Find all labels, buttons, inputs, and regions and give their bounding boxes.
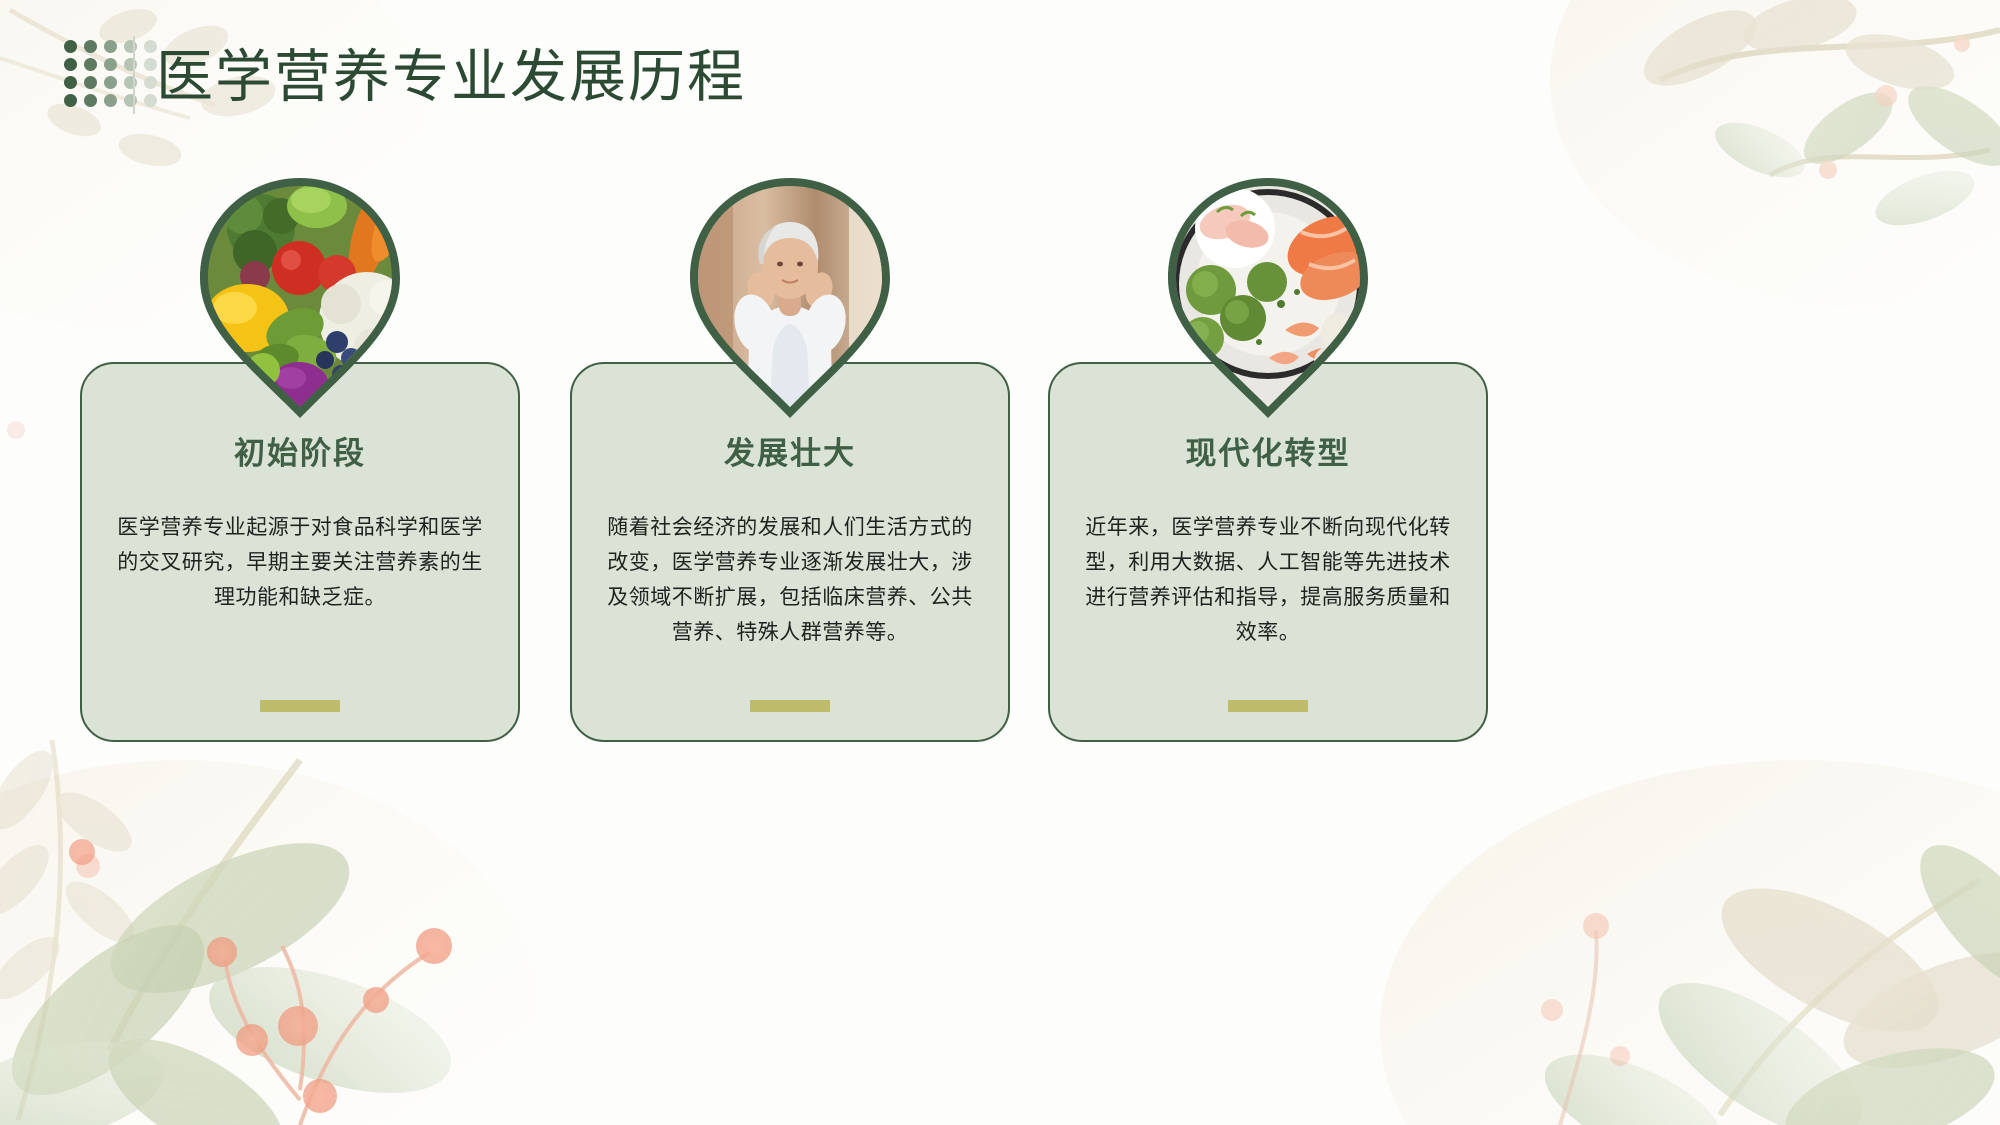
photo-pin-2[interactable] bbox=[681, 172, 899, 422]
card-3-accent-bar bbox=[1228, 700, 1308, 712]
grid-dot bbox=[64, 40, 77, 53]
title-divider-rule bbox=[133, 36, 135, 114]
grid-dot bbox=[84, 94, 97, 107]
grid-dot bbox=[64, 76, 77, 89]
decor-bottom-right-leaves bbox=[1530, 824, 2000, 1125]
card-2-title: 发展壮大 bbox=[572, 434, 1008, 474]
photo-seafood-platter bbox=[1159, 172, 1377, 422]
photo-pin-1[interactable] bbox=[191, 172, 409, 422]
decor-right-berry-stem bbox=[1541, 913, 1630, 1125]
card-2-accent-bar bbox=[750, 700, 830, 712]
page-title: 医学营养专业发展历程 bbox=[156, 42, 746, 114]
dot-grid-ornament bbox=[64, 40, 164, 112]
card-1-title: 初始阶段 bbox=[82, 434, 518, 474]
grid-dot bbox=[124, 58, 137, 71]
photo-fresh-vegetables bbox=[191, 172, 409, 422]
grid-dot bbox=[104, 76, 117, 89]
grid-dot bbox=[124, 76, 137, 89]
decor-bottom-left-leaves bbox=[0, 760, 466, 1125]
grid-dot bbox=[104, 58, 117, 71]
grid-dot bbox=[64, 94, 77, 107]
card-3-body: 近年来，医学营养专业不断向现代化转型，利用大数据、人工智能等先进技术进行营养评估… bbox=[1084, 510, 1452, 650]
slide-header: 医学营养专业发展历程 bbox=[0, 0, 2000, 170]
grid-dot bbox=[84, 76, 97, 89]
card-1-body: 医学营养专业起源于对食品科学和医学的交叉研究，早期主要关注营养素的生理功能和缺乏… bbox=[116, 510, 484, 615]
grid-dot bbox=[84, 40, 97, 53]
card-2-body: 随着社会经济的发展和人们生活方式的改变，医学营养专业逐渐发展壮大，涉及领域不断扩… bbox=[606, 510, 974, 650]
photo-pin-3[interactable] bbox=[1159, 172, 1377, 422]
card-3-title: 现代化转型 bbox=[1050, 434, 1486, 474]
grid-dot bbox=[64, 58, 77, 71]
slide-root: 医学营养专业发展历程 初始阶段 医学营养专业起源于对食品科学和医学的交叉研究，早… bbox=[0, 0, 2000, 1125]
card-1-accent-bar bbox=[260, 700, 340, 712]
grid-dot bbox=[124, 94, 137, 107]
grid-dot bbox=[104, 40, 117, 53]
decor-bottom-berries bbox=[207, 928, 452, 1125]
grid-dot bbox=[124, 40, 137, 53]
grid-dot bbox=[84, 58, 97, 71]
photo-elderly-woman bbox=[681, 172, 899, 422]
grid-dot bbox=[104, 94, 117, 107]
